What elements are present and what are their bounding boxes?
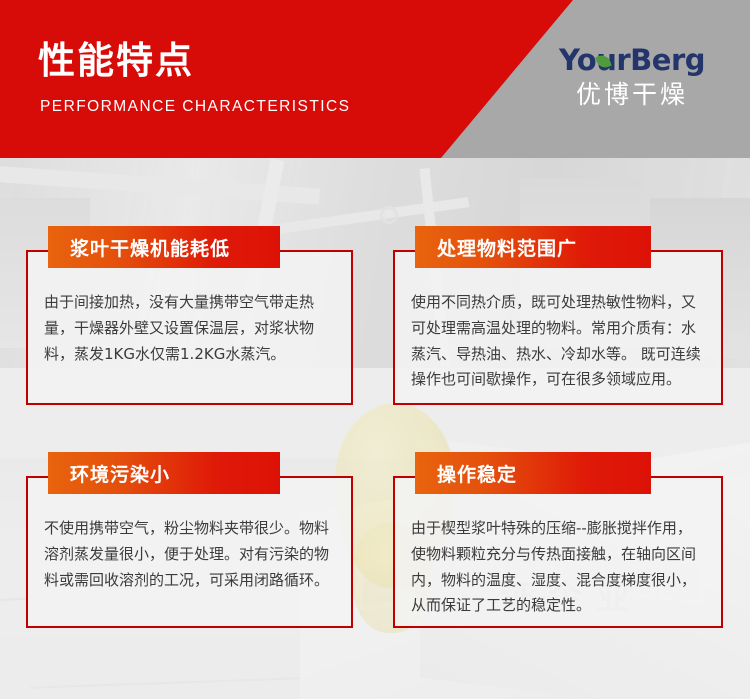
feature-card-title: 浆叶干燥机能耗低 xyxy=(48,226,280,268)
brand-logo-en: YourBerg xyxy=(542,46,722,75)
page-title: 性能特点 xyxy=(38,41,194,82)
page-header: 性能特点 PERFORMANCE CHARACTERISTICS YourBer… xyxy=(0,0,750,158)
feature-card-body: 使用不同热介质，既可处理热敏性物料，又可处理需高温处理的物料。常用介质有：水蒸汽… xyxy=(395,252,721,405)
feature-card: 环境污染小 不使用携带空气，粉尘物料夹带很少。物料溶剂蒸发量很小，便于处理。对有… xyxy=(26,476,353,628)
feature-card-title: 操作稳定 xyxy=(415,452,651,494)
page-root: 证企业 性能特点 PERFORMANCE CHARACTERISTICS You… xyxy=(0,0,750,699)
feature-card-body: 由于间接加热，没有大量携带空气带走热量，干燥器外壁又设置保温层，对浆状物料，蒸发… xyxy=(28,252,351,379)
feature-card-body: 不使用携带空气，粉尘物料夹带很少。物料溶剂蒸发量很小，便于处理。对有污染的物料或… xyxy=(28,478,351,605)
feature-card: 浆叶干燥机能耗低 由于间接加热，没有大量携带空气带走热量，干燥器外壁又设置保温层… xyxy=(26,250,353,405)
feature-card-body: 由于楔型浆叶特殊的压缩--膨胀搅拌作用，使物料颗粒充分与传热面接触，在轴向区间内… xyxy=(395,478,721,631)
brand-logo-en-text: YourBerg xyxy=(559,43,705,77)
feature-card-title: 处理物料范围广 xyxy=(415,226,651,268)
page-subtitle: PERFORMANCE CHARACTERISTICS xyxy=(40,98,350,116)
brand-logo-cn: 优博干燥 xyxy=(542,82,722,110)
feature-card: 操作稳定 由于楔型浆叶特殊的压缩--膨胀搅拌作用，使物料颗粒充分与传热面接触，在… xyxy=(393,476,723,628)
feature-card: 处理物料范围广 使用不同热介质，既可处理热敏性物料，又可处理需高温处理的物料。常… xyxy=(393,250,723,405)
feature-card-title: 环境污染小 xyxy=(48,452,280,494)
brand-logo: YourBerg 优博干燥 xyxy=(542,46,722,110)
